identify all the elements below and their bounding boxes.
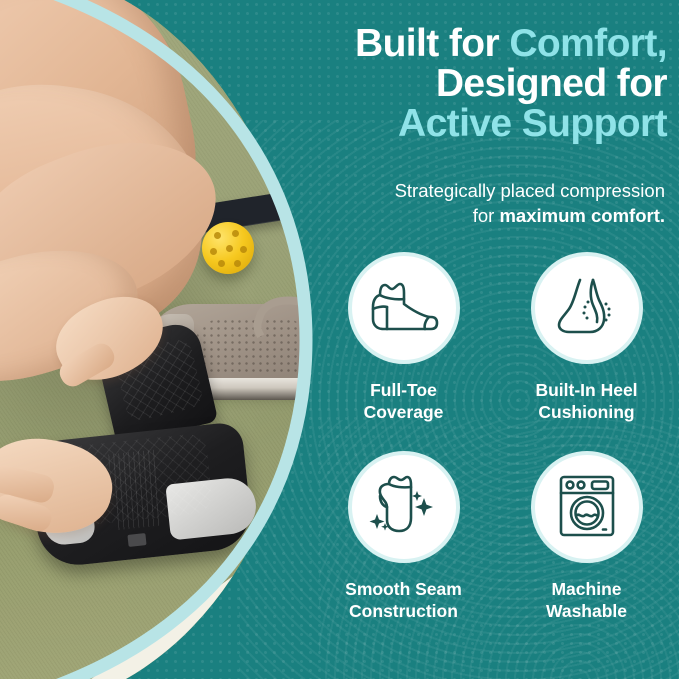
washing-machine-icon	[556, 474, 618, 540]
yellow-pickleball	[202, 222, 254, 274]
product-photo	[0, 0, 312, 679]
feature-label: Smooth Seam Construction	[345, 578, 462, 622]
feature-grid: Full-Toe Coverage	[312, 252, 679, 622]
feature-smooth-seam-construction[interactable]: Smooth Seam Construction	[312, 451, 495, 622]
feature-machine-washable[interactable]: Machine Washable	[495, 451, 678, 622]
subheadline-line2-bold: maximum comfort.	[499, 205, 665, 226]
subheadline-line2-plain: for	[473, 205, 500, 226]
headline-line1-accent: Comfort,	[509, 22, 667, 65]
page-title: Built for Comfort, Designed for Active S…	[315, 24, 667, 144]
feature-label: Built-In Heel Cushioning	[535, 379, 637, 423]
feature-label-line1: Machine	[551, 579, 621, 599]
subheadline-line1: Strategically placed compression	[395, 180, 665, 201]
feature-built-in-heel-cushioning[interactable]: Built-In Heel Cushioning	[495, 252, 678, 423]
feature-label-line2: Coverage	[364, 402, 444, 422]
subheadline: Strategically placed compression for max…	[319, 178, 665, 228]
feature-full-toe-coverage[interactable]: Full-Toe Coverage	[312, 252, 495, 423]
headline-line1-plain: Built for	[355, 22, 509, 65]
feature-icon-circle	[348, 451, 460, 563]
ankle-sock-profile-icon	[367, 279, 441, 337]
feature-label-line1: Built-In Heel	[535, 380, 637, 400]
headline-line3-accent: Active Support	[398, 102, 667, 145]
feature-label-line2: Construction	[349, 601, 458, 621]
feature-label: Machine Washable	[546, 578, 627, 622]
sock-tag	[127, 533, 146, 547]
feature-icon-circle	[531, 451, 643, 563]
content-panel: Built for Comfort, Designed for Active S…	[312, 0, 679, 679]
sock-rib-panel	[108, 450, 162, 530]
feature-label: Full-Toe Coverage	[364, 379, 444, 423]
headline-line2: Designed for	[436, 62, 667, 105]
infographic-canvas: Built for Comfort, Designed for Active S…	[0, 0, 679, 679]
feature-label-line2: Washable	[546, 601, 627, 621]
feature-label-line1: Full-Toe	[370, 380, 437, 400]
sock-sparkle-icon	[369, 474, 439, 540]
feature-label-line2: Cushioning	[538, 402, 634, 422]
feature-icon-circle	[348, 252, 460, 364]
feature-label-line1: Smooth Seam	[345, 579, 462, 599]
feature-icon-circle	[531, 252, 643, 364]
foot-heel-cushion-icon	[554, 276, 620, 340]
